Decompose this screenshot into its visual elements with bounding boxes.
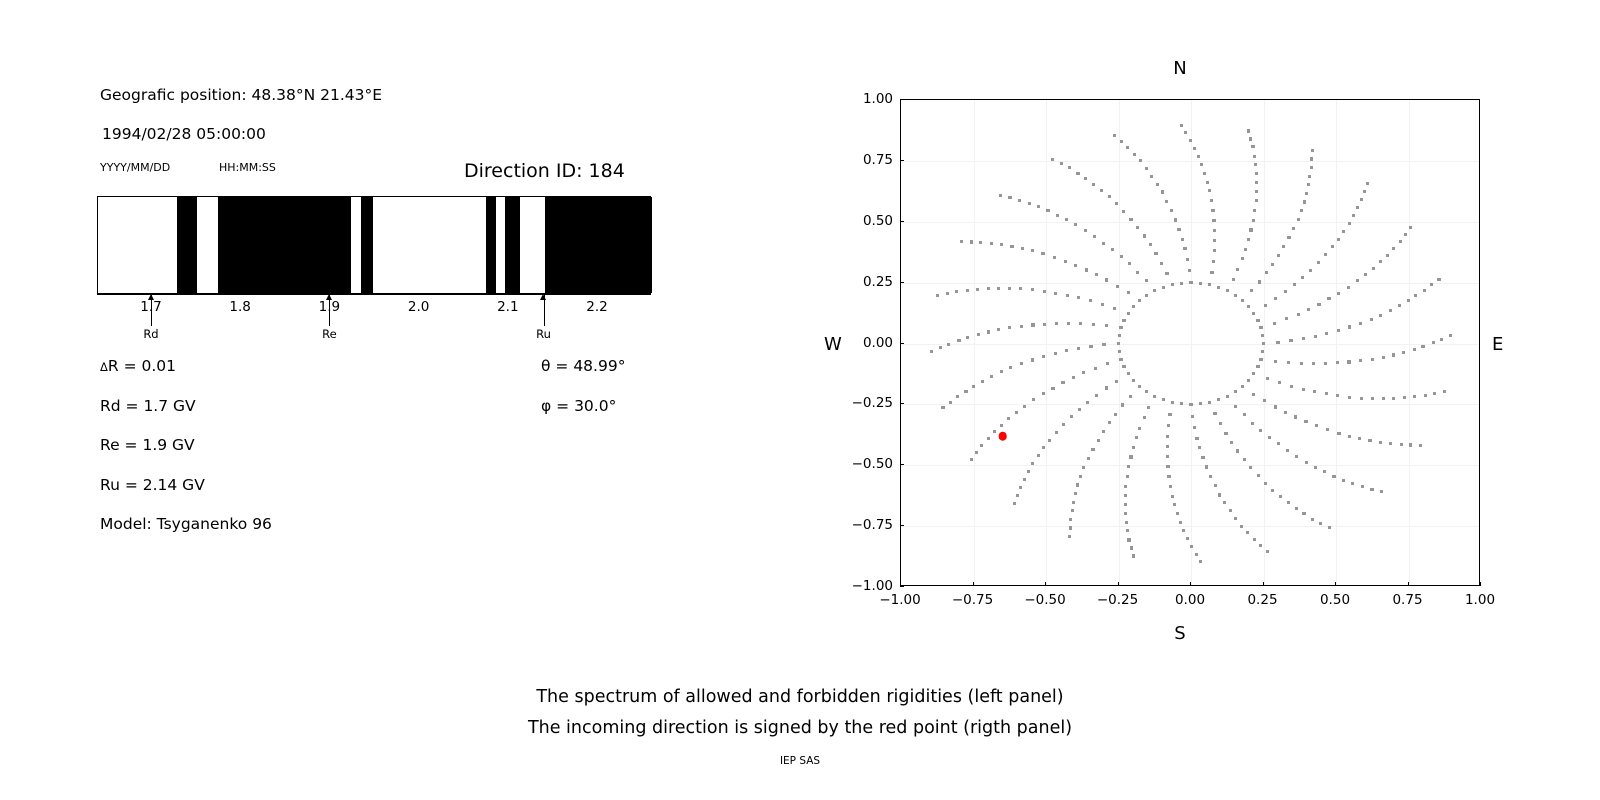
direction-dot [1055,322,1058,325]
y-tick-mark [900,99,904,100]
direction-dot [1007,417,1010,420]
direction-dot [1177,228,1180,231]
direction-dot [1232,278,1235,281]
y-tick-mark [900,221,904,222]
marker-label: Ru [536,327,551,341]
param-delta-r-value: R = 0.01 [108,357,176,375]
direction-dot [1201,456,1204,459]
y-tick-label: 0.50 [863,213,900,229]
direction-dot [1117,342,1120,345]
direction-dot [1252,393,1255,396]
direction-dot [1295,507,1298,510]
direction-dot [1263,399,1266,402]
direction-dot [1071,509,1074,512]
direction-dot [1136,271,1139,274]
compass-north-label: N [1173,58,1186,79]
direction-dot [949,401,952,404]
direction-dot [956,395,959,398]
direction-dot [1113,134,1116,137]
direction-dot [1199,560,1202,563]
direction-dot [1279,495,1282,498]
direction-dot [1062,423,1065,426]
direction-dot [1266,550,1269,553]
x-tick-mark [900,582,901,586]
direction-dot [939,346,942,349]
direction-dot [1128,262,1131,265]
direction-dot [1138,385,1141,388]
direction-dot [1253,538,1256,541]
direction-dot [1337,238,1340,241]
direction-dot [1372,267,1375,270]
forbidden-band [505,197,520,293]
direction-dot [1351,482,1354,485]
direction-dot [1023,478,1026,481]
y-tick-label: −0.50 [852,456,900,472]
direction-dot [1127,465,1130,468]
spectrum-bar-container [97,196,651,294]
direction-dot [1290,385,1293,388]
direction-dot [1244,248,1247,251]
direction-dot [1414,294,1417,297]
direction-dot [1184,131,1187,134]
direction-dot [1392,353,1395,356]
direction-dot [941,406,944,409]
direction-dot [1165,272,1168,275]
direction-dot [1274,405,1277,408]
direction-dot [1094,367,1097,370]
direction-dot [1380,490,1383,493]
direction-dot [1337,329,1340,332]
direction-dot [1433,392,1436,395]
direction-dot [957,339,960,342]
x-tick-label: −1.00 [879,586,920,608]
direction-dot [1093,235,1096,238]
direction-dot [972,385,975,388]
direction-dot [1287,501,1290,504]
direction-dot [1118,334,1121,337]
direction-dot [1138,299,1141,302]
x-tick-label: 0.50 [1320,586,1350,608]
direction-dot [1282,245,1285,248]
direction-dot [1293,283,1296,286]
direction-dot [1115,202,1118,205]
direction-dot [1404,233,1407,236]
direction-dot [1241,257,1244,260]
time-format-hint: HH:MM:SS [219,161,276,174]
direction-dot [1019,486,1022,489]
direction-dot [1124,503,1127,506]
direction-dot [1256,319,1259,322]
direction-dot [1189,403,1192,406]
direction-dot [1203,172,1206,175]
direction-dot [1366,182,1369,185]
direction-dot [1132,305,1135,308]
direction-dot [1113,307,1116,310]
direction-dot [1166,445,1169,448]
direction-dot [1183,247,1186,250]
direction-dot [1064,260,1067,263]
direction-dot [1252,372,1255,375]
direction-dot [1043,323,1046,326]
direction-dot [1213,412,1216,415]
figure-caption: The spectrum of allowed and forbidden ri… [0,682,1600,744]
direction-dot [1301,276,1304,279]
x-tick-label: −0.50 [1024,586,1065,608]
y-tick-label: −0.75 [852,517,900,533]
direction-dot [1173,503,1176,506]
direction-dot [1386,254,1389,257]
direction-dot [1085,268,1088,271]
direction-dot [1317,261,1320,264]
direction-dot [1437,278,1440,281]
direction-dot [1145,390,1148,393]
direction-dot [1046,209,1049,212]
direction-dot [1273,322,1276,325]
direction-dot [1106,362,1109,365]
direction-dot [1324,362,1327,365]
direction-dot [1065,349,1068,352]
direction-dot [1193,147,1196,150]
direction-dot [1421,345,1424,348]
y-tick-mark [900,282,904,283]
direction-dot [1000,243,1003,246]
direction-dot [1066,294,1069,297]
direction-dot [970,458,973,461]
direction-dot [1261,350,1264,353]
direction-dot [1304,420,1307,423]
direction-map-panel: N S W E −1.00−0.75−0.50−0.250.000.250.50… [780,0,1600,660]
direction-dot [1371,397,1374,400]
direction-dot [987,437,990,440]
direction-dot [1009,366,1012,369]
direction-dot [1210,271,1213,274]
direction-dot [1358,437,1361,440]
direction-dot [1102,242,1105,245]
y-tick-label: 0.00 [863,335,900,351]
direction-dot [1257,474,1260,477]
direction-dot [1211,209,1214,212]
compass-south-label: S [1174,623,1185,644]
direction-dot [1294,415,1297,418]
direction-dot [947,343,950,346]
direction-dot [1132,446,1135,449]
direction-dot [1262,342,1265,345]
direction-dot [1230,441,1233,444]
direction-dot [1382,356,1385,359]
direction-dot [1310,166,1313,169]
y-tick-label: 1.00 [863,91,900,107]
direction-dot [1289,339,1292,342]
direction-dot [1018,199,1021,202]
direction-dot [1259,544,1262,547]
direction-dot [1084,229,1087,232]
direction-dot [1167,424,1170,427]
direction-dot [1286,449,1289,452]
y-axis-labels: −1.00−0.75−0.50−0.250.000.250.500.751.00 [780,99,900,586]
direction-dot [1016,494,1019,497]
direction-dot [1206,181,1209,184]
direction-dot [1180,282,1183,285]
direction-dot [1031,288,1034,291]
direction-dot [1124,512,1127,515]
direction-dot [1068,166,1071,169]
direction-dot [1379,260,1382,263]
direction-dot [1265,271,1268,274]
direction-dot [1149,243,1152,246]
direction-dot [1105,278,1108,281]
direction-dot [1078,408,1081,411]
direction-dot [1077,347,1080,350]
direction-dot [1199,402,1202,405]
direction-dot [990,242,993,245]
direction-dot [1268,436,1271,439]
direction-dot [1032,398,1035,401]
x-axis-ticks [900,582,1480,587]
direction-dot [1076,172,1079,175]
direction-dot [1171,401,1174,404]
direction-dot [970,240,973,243]
direction-dot [1000,424,1003,427]
direction-dot [1031,323,1034,326]
direction-dot [1360,397,1363,400]
direction-dot [1127,538,1130,541]
direction-dot [1102,430,1105,433]
direction-dot [1252,219,1255,222]
x-tick-label: −0.25 [1097,586,1138,608]
direction-dot [1274,297,1277,300]
direction-dot [1278,381,1281,384]
direction-dot [1041,252,1044,255]
direction-dot [1392,247,1395,250]
param-delta-r: ΔR = 0.01 [100,357,176,375]
direction-dot [1091,448,1094,451]
direction-dot [1210,199,1213,202]
direction-dot [1311,149,1314,152]
direction-dot [1253,155,1256,158]
direction-dot [1108,195,1111,198]
direction-dot [1122,365,1125,368]
direction-dot [1327,297,1330,300]
direction-dot [1208,401,1211,404]
direction-dot [1051,387,1054,390]
direction-dot [1219,422,1222,425]
direction-dot [1402,351,1405,354]
arrow-up-icon [148,294,154,300]
direction-dot [1400,443,1403,446]
direction-dot [1008,326,1011,329]
direction-dot [1325,332,1328,335]
direction-dot [1337,292,1340,295]
direction-dot [1153,289,1156,292]
direction-dot [1423,289,1426,292]
direction-dot [1224,432,1227,435]
direction-dot [1031,358,1034,361]
direction-dot [1074,264,1077,267]
direction-dot [1407,299,1410,302]
direction-dot [1154,252,1157,255]
direction-dot [1132,379,1135,382]
direction-dot [1208,283,1211,286]
direction-dot [1359,322,1362,325]
direction-dot [1356,279,1359,282]
direction-dot [1342,230,1345,233]
direction-dot [1084,177,1087,180]
direction-dot [1249,137,1252,140]
direction-dot [1249,228,1252,231]
direction-dot [1174,218,1177,221]
direction-dot [1261,334,1264,337]
direction-dot [1336,361,1339,364]
y-tick-mark [900,343,904,344]
direction-dot [1348,325,1351,328]
delta-symbol: Δ [100,360,108,374]
direction-dot [1300,209,1303,212]
direction-dot [1413,395,1416,398]
direction-dot [1008,196,1011,199]
direction-dot [966,336,969,339]
direction-dot [1082,371,1085,374]
direction-dot [1087,457,1090,460]
direction-dot [1197,155,1200,158]
y-axis-ticks [900,99,905,586]
direction-dot [1179,521,1182,524]
direction-dot [1176,512,1179,515]
direction-dot [1218,493,1221,496]
direction-dot [1126,146,1129,149]
geographic-position: Geografic position: 48.38°N 21.43°E [100,86,382,104]
direction-dot [1356,206,1359,209]
direction-dot [1129,455,1132,458]
direction-dot [1076,483,1079,486]
direction-dot [997,328,1000,331]
direction-dot [1319,522,1322,525]
direction-dot [1139,159,1142,162]
forbidden-band [177,197,197,293]
caption-line-1: The spectrum of allowed and forbidden ri… [0,682,1600,713]
direction-dot [1254,163,1257,166]
direction-dot [1153,395,1156,398]
direction-dot [1285,317,1288,320]
direction-dot [1181,238,1184,241]
direction-dot [1331,245,1334,248]
y-tick-mark [900,160,904,161]
direction-dot [1213,239,1216,242]
param-model: Model: Tsyganenko 96 [100,515,272,533]
direction-dot [1105,324,1108,327]
direction-dot [1449,334,1452,337]
direction-dot [1312,362,1315,365]
direction-dot [1251,145,1254,148]
direction-dot [1264,482,1267,485]
direction-dot [1323,470,1326,473]
marker-label: Re [322,327,337,341]
x-tick-mark [1335,582,1336,586]
direction-dot [1189,139,1192,142]
direction-dot [1171,283,1174,286]
x-tick-mark [1045,582,1046,586]
direction-dot [960,240,963,243]
direction-dot [1389,442,1392,445]
direction-dot [1409,443,1412,446]
direction-dot [964,390,967,393]
caption-line-2: The incoming direction is signed by the … [0,713,1600,744]
direction-dot [1120,140,1123,143]
direction-dot [1135,436,1138,439]
direction-dot [1182,529,1185,532]
y-tick-label: 0.75 [863,152,900,168]
direction-dot [1271,489,1274,492]
direction-dot [1308,175,1311,178]
direction-dot [1054,292,1057,295]
direction-dot [1370,488,1373,491]
direction-dot [946,292,949,295]
direction-dot [1287,236,1290,239]
direction-dot [1314,335,1317,338]
direction-dot [1297,218,1300,221]
direction-dot [987,330,990,333]
direction-dot [1095,273,1098,276]
direction-dot [1086,401,1089,404]
direction-dot [1443,390,1446,393]
direction-dot [1241,299,1244,302]
direction-dot [1124,494,1127,497]
direction-dot [1069,518,1072,521]
direction-dot [1167,475,1170,478]
direction-dot [1119,326,1122,329]
direction-dot [1352,214,1355,217]
direction-dot [1143,416,1146,419]
direction-dot [1247,379,1250,382]
param-ru: Ru = 2.14 GV [100,476,205,494]
direction-dot [955,290,958,293]
direction-dot [1031,249,1034,252]
direction-dot [1129,218,1132,221]
direction-dot [1256,365,1259,368]
direction-dot [1037,454,1040,457]
direction-dot [1347,286,1350,289]
direction-dot [1266,377,1269,380]
direction-dot [1065,218,1068,221]
direction-dot [1440,338,1443,341]
direction-dot [1234,405,1237,408]
direction-dot [1342,479,1345,482]
direction-dot [1111,248,1114,251]
direction-dot [990,375,993,378]
direction-dot [1379,441,1382,444]
direction-dot [1303,200,1306,203]
direction-dot [1199,282,1202,285]
axis-line [97,294,651,295]
direction-dot [1302,337,1305,340]
direction-dot [1370,318,1373,321]
direction-dot [1246,531,1249,534]
direction-dot [1392,397,1395,400]
direction-dot [1118,350,1121,353]
direction-dot [1136,226,1139,229]
direction-dot [1324,253,1327,256]
x-tick-mark [1263,582,1264,586]
direction-dot [1105,386,1108,389]
direction-dot [1309,269,1312,272]
direction-dot [1043,290,1046,293]
direction-dot [1243,458,1246,461]
direction-dot [1311,518,1314,521]
direction-dot [1019,287,1022,290]
direction-dot [1055,431,1058,434]
direction-dot [1121,403,1124,406]
direction-dot [1070,415,1073,418]
direction-dot [1313,390,1316,393]
